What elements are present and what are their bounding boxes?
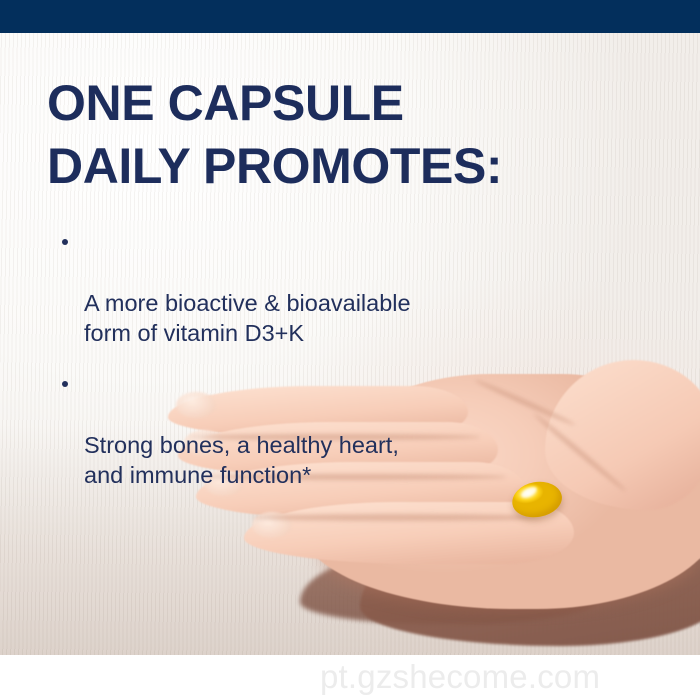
product-benefits-banner: ONE CAPSULE DAILY PROMOTES: A more bioac… (0, 0, 700, 700)
list-item: Strong bones, a healthy heart, and immun… (58, 370, 488, 490)
bullet-text: A more bioactive & bioavailable form of … (84, 290, 411, 346)
bullet-dot-icon (62, 239, 68, 245)
bullet-text: Strong bones, a healthy heart, and immun… (84, 432, 399, 488)
bullet-dot-icon (62, 381, 68, 387)
watermark: pt.gzshecome.com (320, 658, 600, 696)
finger-crease (252, 514, 542, 521)
capsule-highlight (520, 485, 539, 500)
list-item: A more bioactive & bioavailable form of … (58, 228, 488, 348)
benefit-list: A more bioactive & bioavailable form of … (58, 228, 488, 512)
headline: ONE CAPSULE DAILY PROMOTES: (47, 72, 647, 198)
top-navy-bar (0, 0, 700, 33)
